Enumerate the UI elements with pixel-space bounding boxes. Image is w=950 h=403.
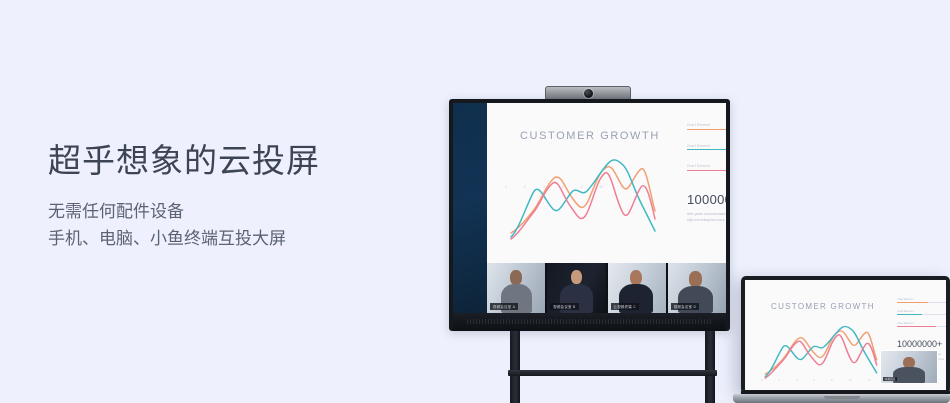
participant-name: 云视频终端 C [611, 303, 639, 310]
xtick: 8 [831, 378, 833, 382]
stat-label: Chart Element [687, 123, 726, 127]
xtick: 0 [761, 378, 763, 382]
big-number: 10000000+ [687, 192, 726, 207]
laptop-self-view[interactable]: 本地画面 [880, 350, 938, 384]
stand-crossbar [508, 370, 717, 376]
xtick: 10 [600, 185, 604, 189]
display-side-bezel [453, 103, 487, 327]
participant-tile-1[interactable]: 视频会议室 A [487, 263, 545, 313]
line-chart [503, 153, 658, 248]
stat-label: Chart Element [897, 322, 946, 325]
laptop-mirrored-slide[interactable]: CUSTOMER GROWTH 0 2 4 6 8 10 12 [745, 280, 946, 390]
laptop-lid: CUSTOMER GROWTH 0 2 4 6 8 10 12 [741, 276, 950, 394]
xtick: 0 [505, 185, 507, 189]
stat-row: Chart Element [897, 310, 946, 315]
chart-svg [503, 153, 658, 248]
xtick: 10 [848, 378, 851, 382]
stat-percent: 86% [687, 172, 726, 176]
xtick: 2 [524, 185, 526, 189]
participant-tile-4[interactable]: 视频会议室 D [668, 263, 726, 313]
xtick: 8 [581, 185, 583, 189]
xtick: 12 [868, 378, 871, 382]
stat-row: Chart Element 86% [687, 164, 726, 176]
camera-lens-icon [584, 89, 593, 98]
participant-name: 视频会议室 D [671, 303, 699, 310]
laptop-chart-svg [759, 322, 879, 384]
series-pink-line [511, 173, 655, 239]
subtitle-line-1: 无需任何配件设备 [48, 199, 408, 225]
stat-percent: 58% [687, 151, 726, 155]
xtick: 14 [641, 185, 645, 189]
laptop-line-chart [759, 322, 879, 384]
speaker-grille [467, 319, 712, 324]
laptop-trackpad-notch [824, 396, 860, 399]
participant-name: 视频会议室 A [490, 303, 518, 310]
xtick: 6 [562, 185, 564, 189]
stat-percent: 72% [687, 131, 726, 135]
stat-bar [687, 129, 726, 130]
series-orange-line [511, 167, 655, 233]
stat-row: Chart Element 72% [687, 123, 726, 135]
laptop-device: CUSTOMER GROWTH 0 2 4 6 8 10 12 [733, 276, 950, 403]
stat-label: Chart Element [687, 144, 726, 148]
laptop-big-number: 10000000+ [897, 339, 946, 349]
participant-strip: 视频会议室 A 视频会议室 B 云视频终端 C 视频会议室 D [487, 263, 726, 313]
stat-bar [687, 149, 726, 150]
xtick: 6 [813, 378, 815, 382]
presentation-slide[interactable]: CUSTOMER GROWTH 0 2 4 6 8 10 12 [487, 103, 726, 263]
slide-title: CUSTOMER GROWTH [520, 130, 660, 142]
display-panel: CUSTOMER GROWTH 0 2 4 6 8 10 12 [449, 99, 730, 331]
big-number-description: After years of accumulation, we have mor… [687, 211, 726, 224]
stat-label: Chart Element [897, 298, 946, 301]
stand-leg-right [705, 331, 715, 403]
promo-stage: 超乎想象的云投屏 无需任何配件设备 手机、电脑、小鱼终端互投大屏 CUSTOME… [0, 0, 950, 403]
subtitle-line-2: 手机、电脑、小鱼终端互投大屏 [48, 226, 408, 252]
laptop-base [733, 394, 950, 403]
display-chin [453, 313, 726, 331]
xtick: 4 [796, 378, 798, 382]
xtick: 12 [620, 185, 624, 189]
laptop-chart-x-axis-ticks: 0 2 4 6 8 10 12 [761, 378, 871, 382]
participant-name: 视频会议室 B [550, 303, 578, 310]
stat-bar [897, 326, 946, 327]
marketing-copy: 超乎想象的云投屏 无需任何配件设备 手机、电脑、小鱼终端互投大屏 [48, 140, 408, 252]
xtick: 2 [778, 378, 780, 382]
chart-x-axis-ticks: 0 2 4 6 8 10 12 14 [505, 185, 645, 189]
page-title: 超乎想象的云投屏 [48, 140, 408, 181]
stat-row: Chart Element [897, 322, 946, 327]
stat-bar [897, 314, 946, 315]
marketing-subtitle: 无需任何配件设备 手机、电脑、小鱼终端互投大屏 [48, 199, 408, 252]
self-view-name: 本地画面 [883, 377, 897, 381]
stat-bar [897, 302, 946, 303]
laptop-slide-title: CUSTOMER GROWTH [771, 302, 875, 311]
slide-stats-panel: Chart Element 72% Chart Element 58% [687, 123, 726, 223]
stat-row: Chart Element [897, 298, 946, 303]
stat-bar [687, 170, 726, 171]
stat-label: Chart Element [897, 310, 946, 313]
participant-tile-3[interactable]: 云视频终端 C [608, 263, 666, 313]
stat-row: Chart Element 58% [687, 144, 726, 156]
stat-label: Chart Element [687, 164, 726, 168]
stand-leg-left [510, 331, 520, 403]
xtick: 4 [543, 185, 545, 189]
participant-tile-2[interactable]: 视频会议室 B [547, 263, 605, 313]
conference-display: CUSTOMER GROWTH 0 2 4 6 8 10 12 [449, 99, 730, 331]
series-teal-line [511, 160, 655, 237]
